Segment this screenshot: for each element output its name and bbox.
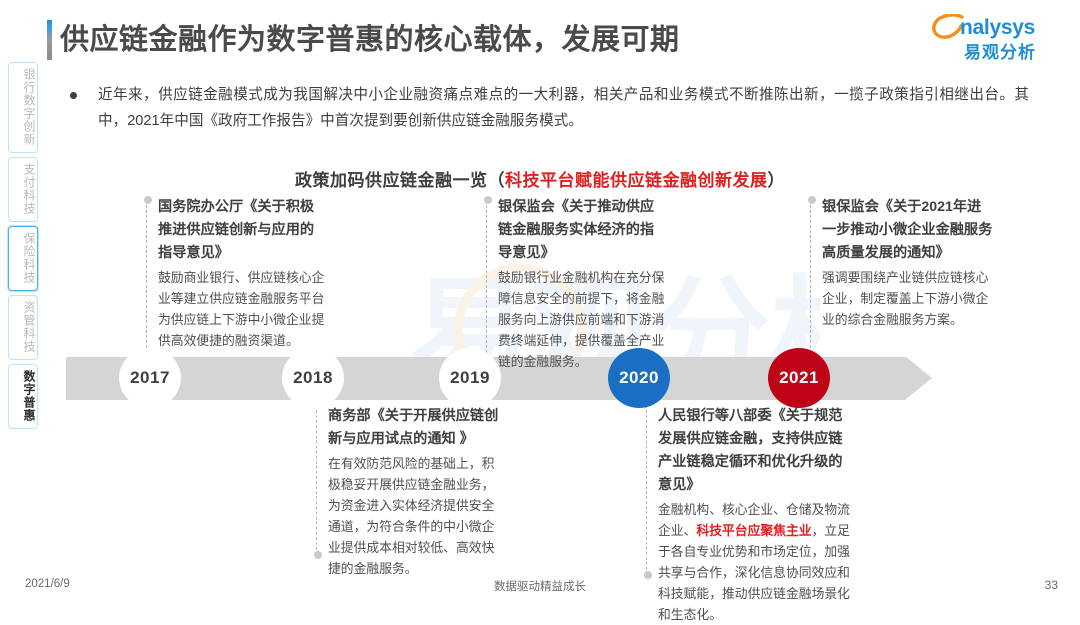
timeline-node-label: 2021 — [779, 368, 819, 388]
policy-card-2021: 银保监会《关于2021年进一步推动小微企业金融服务高质量发展的通知》 强调要围绕… — [822, 196, 994, 330]
policy-card-title: 国务院办公厅《关于积极推进供应链创新与应用的指导意见》 — [158, 196, 326, 265]
page-title: 供应链金融作为数字普惠的核心载体，发展可期 — [60, 16, 680, 58]
sidebar-item-label: 数字普惠 — [22, 370, 36, 422]
policy-card-body: 鼓励商业银行、供应链核心企业等建立供应链金融服务平台为供应链上下游中小微企业提供… — [158, 267, 326, 351]
policy-card-body: 金融机构、核心企业、仓储及物流企业、科技平台应聚焦主业，立足于各自专业优势和市场… — [658, 499, 854, 625]
policy-card-title: 银保监会《关于2021年进一步推动小微企业金融服务高质量发展的通知》 — [822, 196, 994, 265]
footer-slogan: 数据驱动精益成长 — [0, 578, 1080, 594]
policy-card-title: 人民银行等八部委《关于规范发展供应链金融，支持供应链产业链稳定循环和优化升级的意… — [658, 405, 854, 497]
page-footer: 2021/6/9 数据驱动精益成长 33 — [0, 578, 1080, 600]
chart-title-main: 政策加码供应链金融一览（ — [295, 171, 505, 190]
sidebar-item-insurance-tech[interactable]: 保险科技 — [8, 226, 38, 291]
policy-card-body: 鼓励银行业金融机构在充分保障信息安全的前提下，将金融服务向上游供应前端和下游消费… — [498, 267, 666, 372]
intro-paragraph: 近年来，供应链金融模式成为我国解决中小企业融资痛点难点的一大利器，相关产品和业务… — [64, 82, 1029, 134]
timeline-node-label: 2017 — [130, 368, 170, 388]
sidebar-item-label: 资管科技 — [22, 301, 36, 353]
connector-line-2018 — [316, 400, 318, 555]
policy-card-2019: 银保监会《关于推动供应链金融服务实体经济的指导意见》 鼓励银行业金融机构在充分保… — [498, 196, 666, 372]
connector-dot-2018 — [314, 551, 322, 559]
chart-title: 政策加码供应链金融一览（科技平台赋能供应链金融创新发展） — [0, 166, 1080, 191]
connector-line-2019 — [486, 200, 488, 358]
timeline-node-2018[interactable]: 2018 — [282, 348, 344, 408]
policy-card-title: 银保监会《关于推动供应链金融服务实体经济的指导意见》 — [498, 196, 666, 265]
policy-card-2018: 商务部《关于开展供应链创新与应用试点的通知 》 在有效防范风险的基础上，积极稳妥… — [328, 405, 500, 579]
connector-dot-2017 — [144, 196, 152, 204]
chart-title-highlight: 科技平台赋能供应链金融创新发展 — [505, 171, 768, 190]
timeline-node-label: 2018 — [293, 368, 333, 388]
sidebar-item-bank-digital-innovation[interactable]: 银行数字创新 — [8, 62, 38, 153]
logo-chinese-name: 易观分析 — [964, 38, 1036, 63]
bullet-dot-icon — [70, 92, 77, 99]
policy-card-body: 在有效防范风险的基础上，积极稳妥开展供应链金融业务，为资金进入实体经济提供安全通… — [328, 453, 500, 579]
connector-line-2020 — [646, 400, 648, 575]
title-accent-bar — [47, 20, 52, 60]
sidebar-item-asset-management-tech[interactable]: 资管科技 — [8, 295, 38, 360]
page-header: 供应链金融作为数字普惠的核心载体，发展可期 nalysys 易观分析 — [0, 0, 1080, 72]
connector-dot-2021 — [808, 196, 816, 204]
timeline-node-2017[interactable]: 2017 — [119, 348, 181, 408]
timeline-node-2019[interactable]: 2019 — [439, 348, 501, 408]
timeline-arrow-head-icon — [906, 357, 932, 399]
intro-text: 近年来，供应链金融模式成为我国解决中小企业融资痛点难点的一大利器，相关产品和业务… — [98, 82, 1029, 134]
timeline-node-label: 2019 — [450, 368, 490, 388]
analysys-logo: nalysys 易观分析 — [930, 14, 1056, 64]
connector-dot-2019 — [484, 196, 492, 204]
connector-line-2017 — [146, 200, 148, 358]
policy-card-body: 强调要围绕产业链供应链核心企业，制定覆盖上下游小微企业的综合金融服务方案。 — [822, 267, 994, 330]
timeline-chart: 政策加码供应链金融一览（科技平台赋能供应链金融创新发展） 2017 2018 2… — [0, 152, 1080, 572]
logo-wordmark: nalysys — [960, 16, 1035, 40]
sidebar-tabs: 银行数字创新 支付科技 保险科技 资管科技 数字普惠 — [6, 62, 40, 433]
chart-title-tail: ） — [768, 171, 786, 190]
connector-line-2021 — [810, 200, 812, 358]
sidebar-item-label: 支付科技 — [22, 163, 36, 215]
sidebar-item-label: 保险科技 — [22, 232, 36, 284]
policy-card-title: 商务部《关于开展供应链创新与应用试点的通知 》 — [328, 405, 500, 451]
policy-card-body-highlight: 科技平台应聚焦主业 — [696, 523, 811, 538]
policy-card-2017: 国务院办公厅《关于积极推进供应链创新与应用的指导意见》 鼓励商业银行、供应链核心… — [158, 196, 326, 351]
sidebar-item-label: 银行数字创新 — [22, 68, 36, 146]
sidebar-item-payment-tech[interactable]: 支付科技 — [8, 157, 38, 222]
timeline-node-2021[interactable]: 2021 — [768, 348, 830, 408]
sidebar-item-digital-inclusive-finance[interactable]: 数字普惠 — [8, 364, 38, 429]
footer-page-number: 33 — [1045, 578, 1058, 592]
